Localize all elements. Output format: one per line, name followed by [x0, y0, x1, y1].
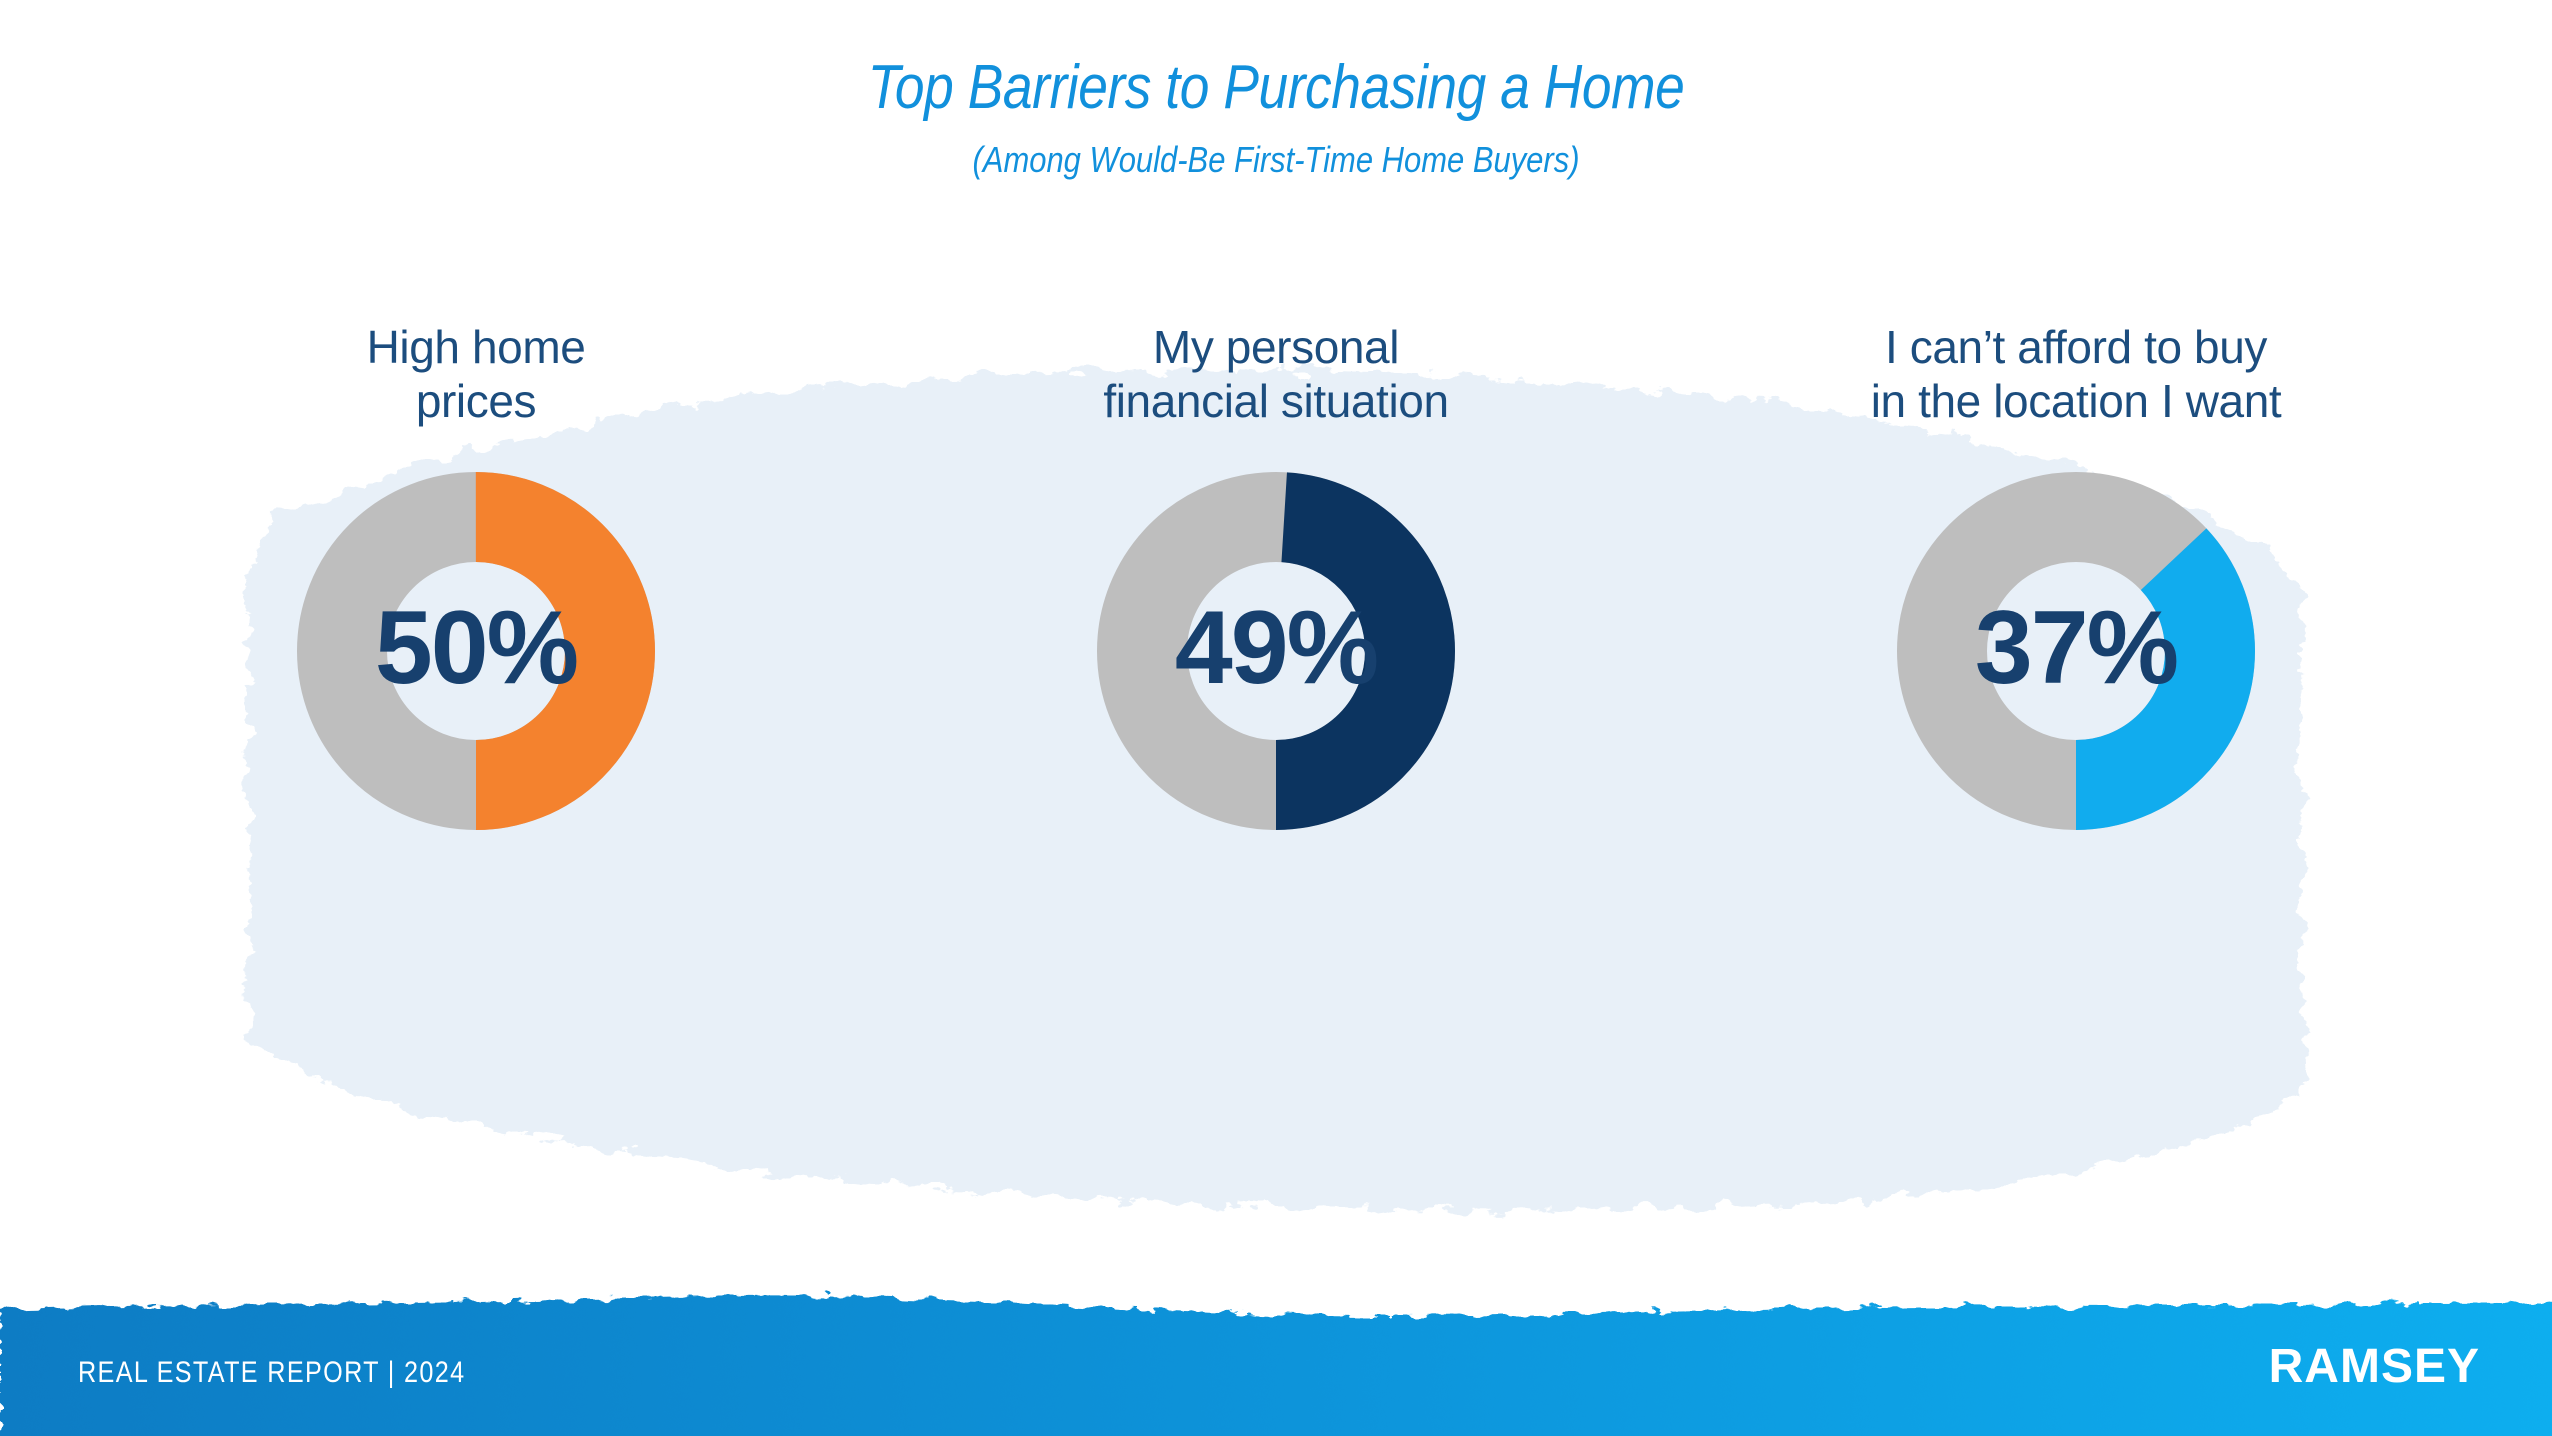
donut-value-0: 50% — [297, 589, 655, 708]
footer-bar: REAL ESTATE REPORT | 2024 RAMSEY — [0, 1276, 2552, 1436]
donut-chart-1: 49% — [1097, 472, 1455, 830]
page-title: Top Barriers to Purchasing a Home — [179, 52, 2374, 123]
donut-value-1: 49% — [1097, 589, 1455, 708]
page-subtitle: (Among Would-Be First-Time Home Buyers) — [179, 139, 2374, 181]
report-label: REAL ESTATE REPORT | 2024 — [78, 1356, 465, 1390]
donut-card-0: High home prices 50% — [146, 320, 806, 830]
donut-label-0: High home prices — [367, 320, 586, 444]
donut-card-2: I can’t afford to buy in the location I … — [1746, 320, 2406, 830]
donut-value-2: 37% — [1897, 589, 2255, 708]
donut-label-2: I can’t afford to buy in the location I … — [1871, 320, 2282, 444]
header: Top Barriers to Purchasing a Home (Among… — [0, 0, 2552, 260]
donut-chart-0: 50% — [297, 472, 655, 830]
donut-chart-2: 37% — [1897, 472, 2255, 830]
donut-chart-row: High home prices 50% My personal financi… — [0, 320, 2552, 1240]
donut-card-1: My personal financial situation 49% — [946, 320, 1606, 830]
ramsey-logo: RAMSEY — [2269, 1339, 2480, 1394]
donut-label-1: My personal financial situation — [1103, 320, 1448, 444]
